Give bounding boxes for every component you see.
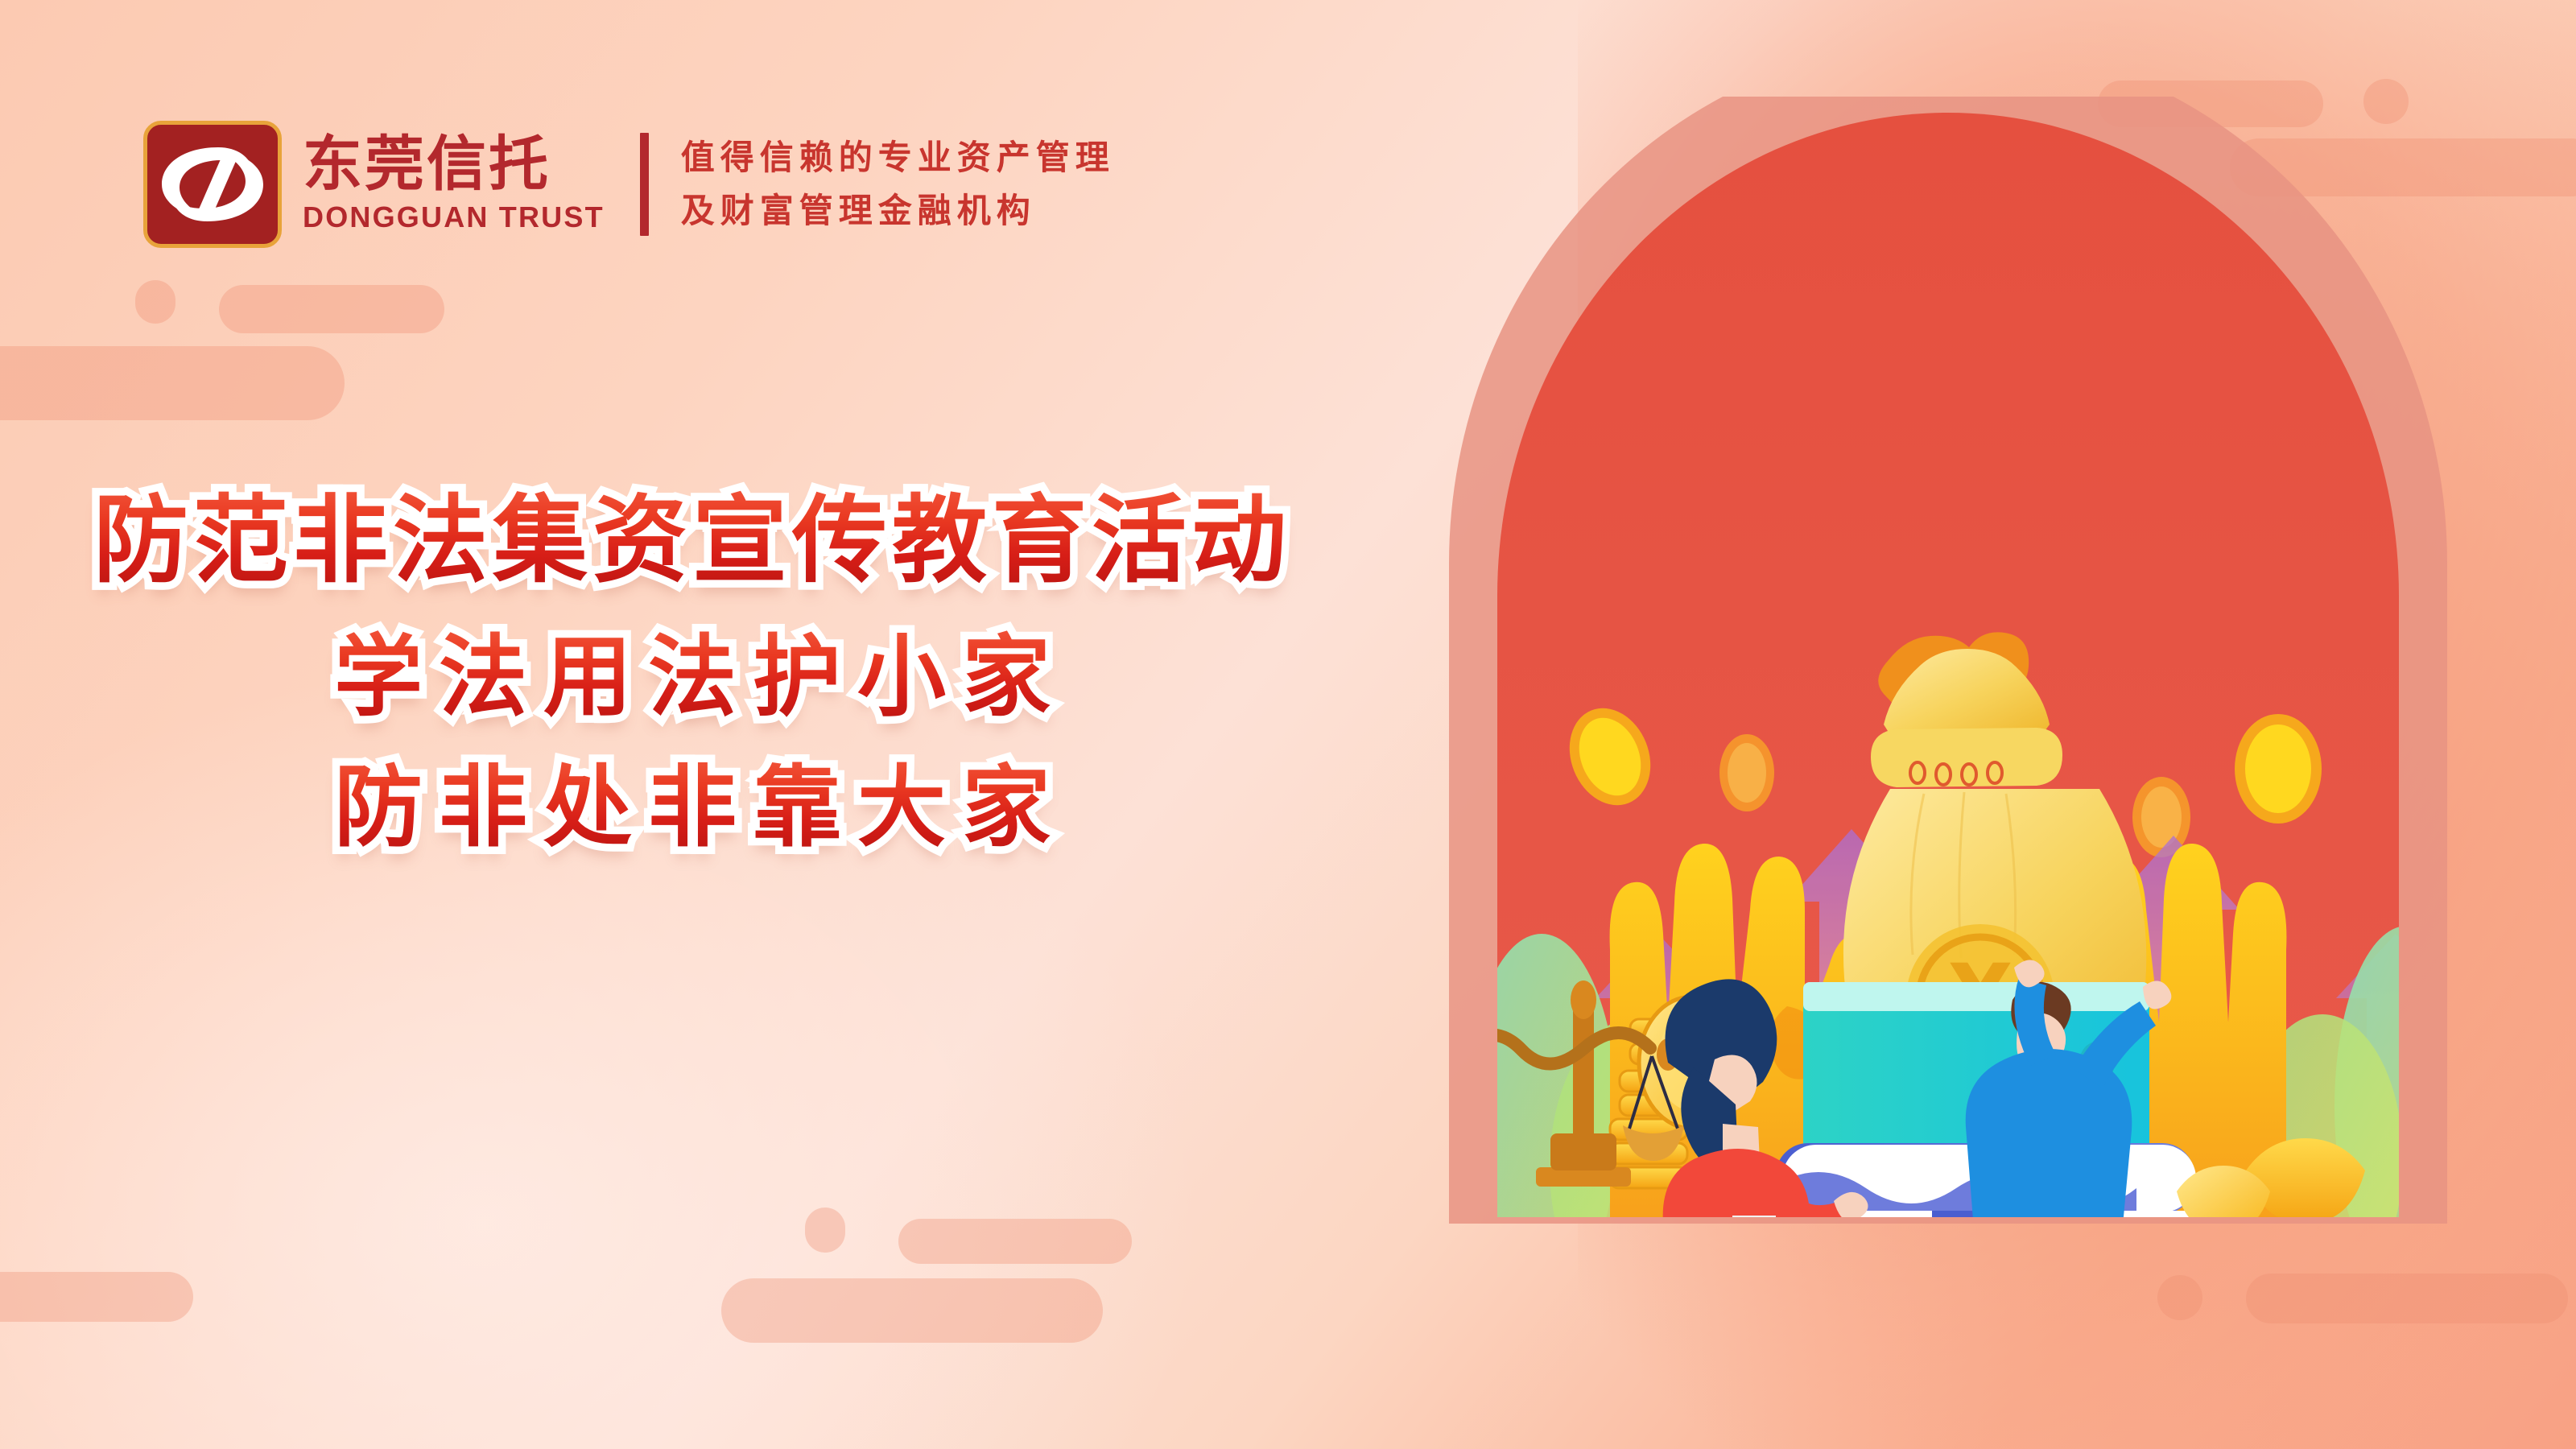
headline-line-3-wrap: 防非处非靠大家 防非处非靠大家 (0, 753, 1385, 861)
logo-divider (640, 133, 649, 236)
illustration-anti-illegal-fundraising: ¥ (1368, 97, 2544, 1352)
headline-line-3: 防非处非靠大家 (0, 753, 1385, 861)
brand-name-cn: 东莞信托 (303, 134, 605, 194)
headline-block: 防范非法集资宣传教育活动 防范非法集资宣传教育活动 学法用法护小家 学法用法护小… (0, 483, 1385, 861)
dongguan-trust-emblem-icon (143, 121, 282, 248)
deco-pill (898, 1219, 1132, 1264)
deco-pill (219, 285, 444, 333)
deco-pill (0, 346, 345, 420)
tagline-line-2: 及财富管理金融机构 (681, 184, 1115, 237)
decoration-cluster-bottom-center (692, 1199, 1207, 1377)
banner-stage: 东莞信托 DONGGUAN TRUST 值得信赖的专业资产管理 及财富管理金融机… (0, 0, 2576, 1449)
headline-line-1: 防范非法集资宣传教育活动 (0, 483, 1385, 599)
deco-dot (135, 280, 175, 324)
decoration-cluster-left-bottom (0, 1256, 338, 1385)
brand-logo-block: 东莞信托 DONGGUAN TRUST 值得信赖的专业资产管理 及财富管理金融机… (143, 121, 1115, 248)
headline-line-2-wrap: 学法用法护小家 学法用法护小家 (0, 623, 1385, 731)
brand-name-en: DONGGUAN TRUST (303, 200, 605, 234)
deco-dot (805, 1207, 845, 1253)
brand-tagline: 值得信赖的专业资产管理 及财富管理金融机构 (681, 131, 1115, 238)
tagline-line-1: 值得信赖的专业资产管理 (681, 131, 1115, 184)
deco-pill (0, 1272, 193, 1322)
headline-line-1-wrap: 防范非法集资宣传教育活动 防范非法集资宣传教育活动 (0, 483, 1385, 599)
deco-pill (721, 1278, 1103, 1343)
brand-wordmark: 东莞信托 DONGGUAN TRUST (303, 134, 605, 234)
decoration-cluster-top-left (0, 266, 499, 443)
headline-line-2: 学法用法护小家 (0, 623, 1385, 731)
